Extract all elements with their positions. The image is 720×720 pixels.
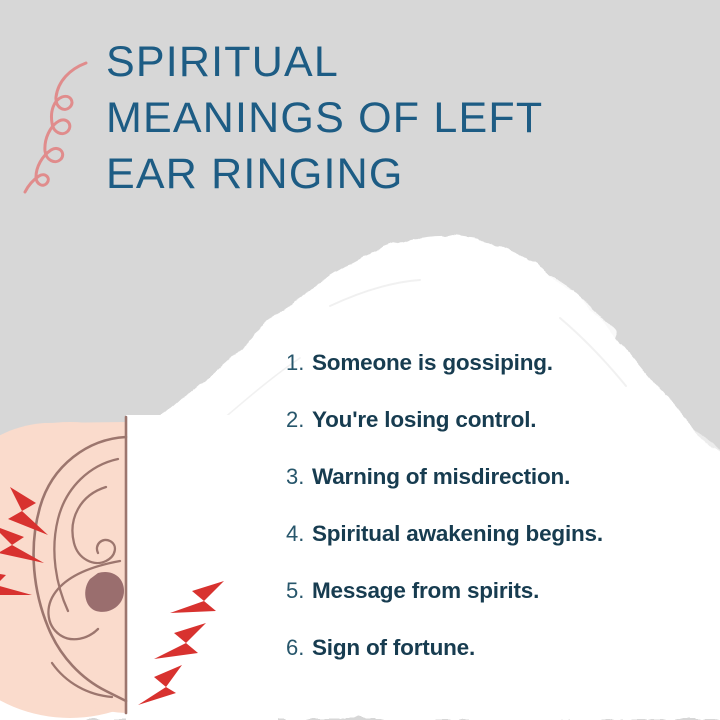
list-item: 4. Spiritual awakening begins.	[286, 521, 706, 578]
list-item: 1. Someone is gossiping.	[286, 350, 706, 407]
page-title: SPIRITUAL MEANINGS OF LEFT EAR RINGING	[106, 34, 666, 202]
list-item-number: 3.	[286, 464, 312, 490]
list-item-text: Message from spirits.	[312, 578, 539, 604]
title-line-1: SPIRITUAL	[106, 34, 666, 90]
list-item: 5. Message from spirits.	[286, 578, 706, 635]
head-shape	[0, 415, 278, 720]
meanings-list: 1. Someone is gossiping. 2. You're losin…	[286, 350, 706, 692]
title-line-2: MEANINGS OF LEFT	[106, 90, 666, 146]
list-item-text: Someone is gossiping.	[312, 350, 553, 376]
list-item-text: You're losing control.	[312, 407, 536, 433]
list-item-text: Spiritual awakening begins.	[312, 521, 603, 547]
infographic-canvas: SPIRITUAL MEANINGS OF LEFT EAR RINGING	[0, 0, 720, 720]
decorative-squiggle-icon	[12, 55, 112, 195]
list-item-number: 2.	[286, 407, 312, 433]
list-item: 6. Sign of fortune.	[286, 635, 706, 692]
list-item: 3. Warning of misdirection.	[286, 464, 706, 521]
ear-illustration	[0, 395, 278, 720]
list-item-number: 1.	[286, 350, 312, 376]
list-item-number: 4.	[286, 521, 312, 547]
list-item-text: Sign of fortune.	[312, 635, 475, 661]
list-item-number: 5.	[286, 578, 312, 604]
list-item-number: 6.	[286, 635, 312, 661]
title-line-3: EAR RINGING	[106, 146, 666, 202]
list-item-text: Warning of misdirection.	[312, 464, 570, 490]
list-item: 2. You're losing control.	[286, 407, 706, 464]
